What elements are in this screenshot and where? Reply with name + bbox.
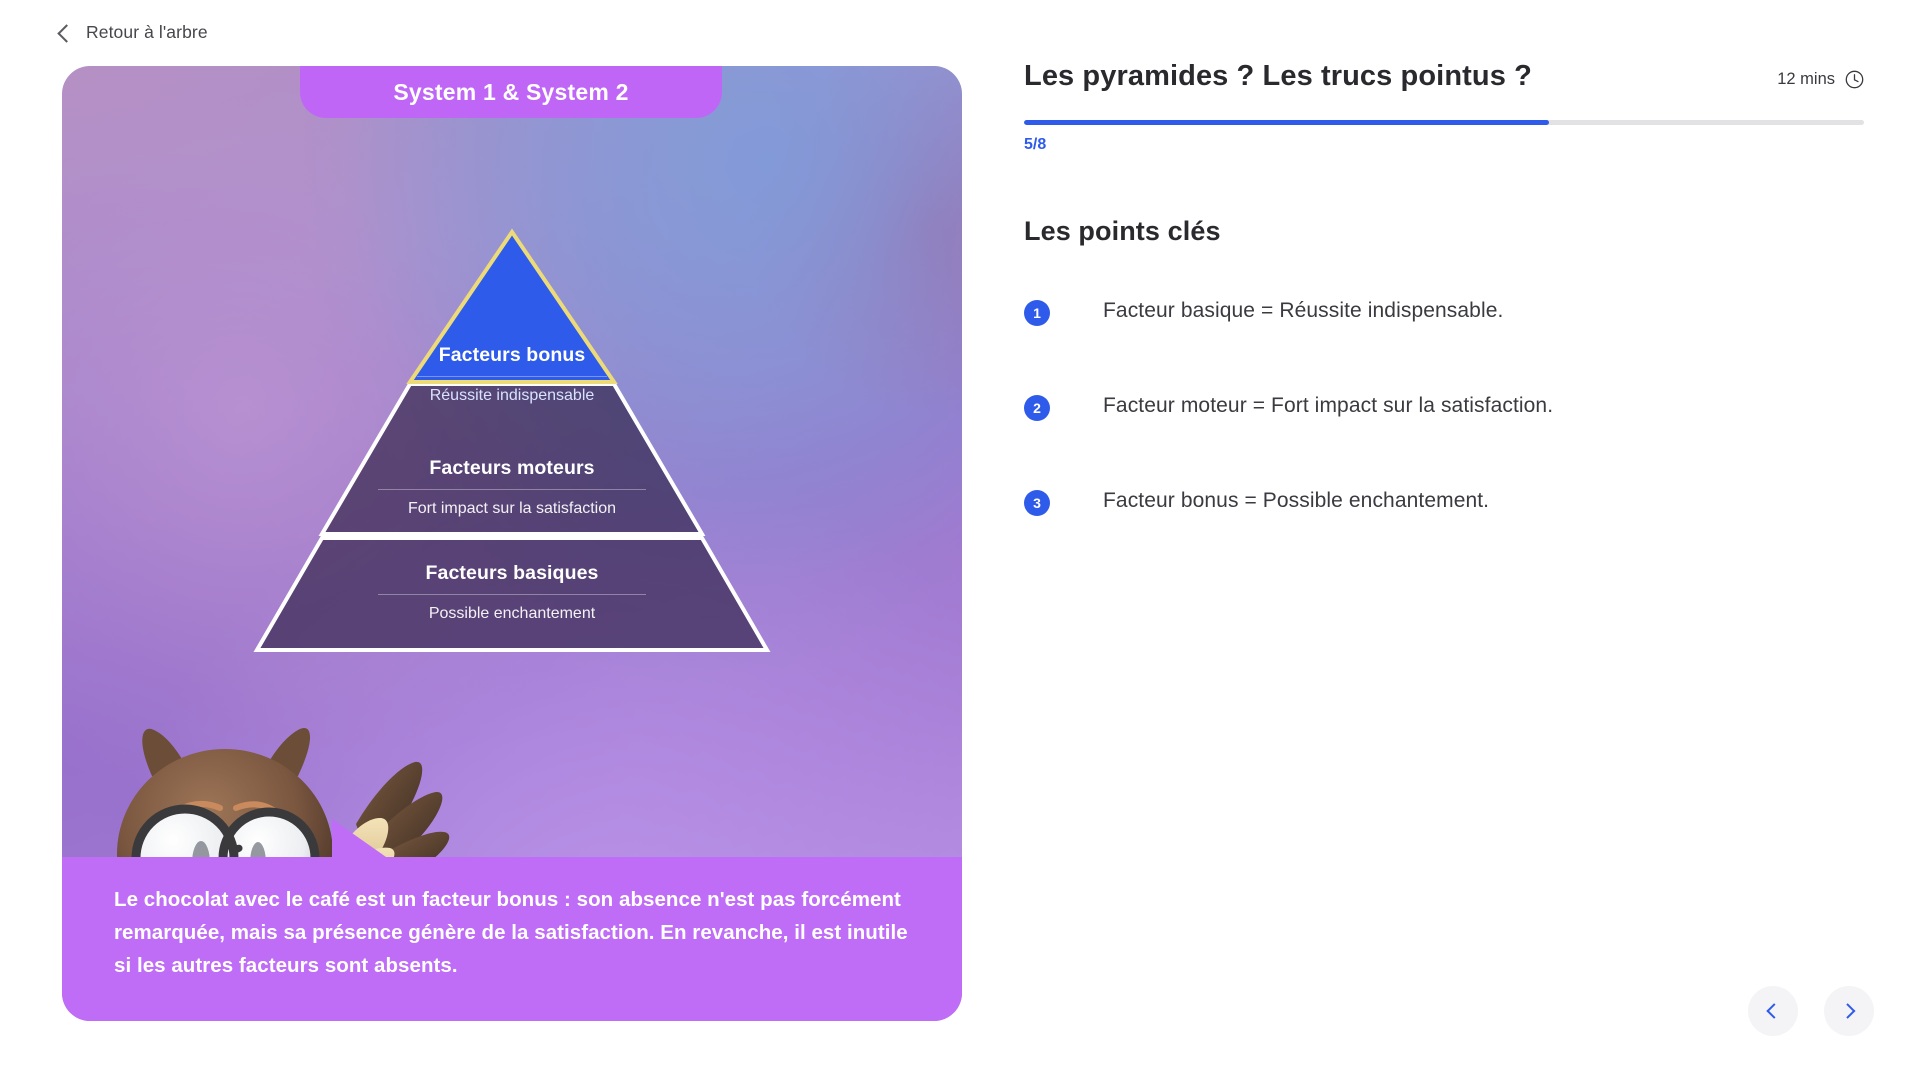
lesson-header: Les pyramides ? Les trucs pointus ? 12 m…	[1024, 60, 1864, 93]
chevron-left-icon	[57, 24, 75, 42]
status-badge: 3	[1024, 490, 1050, 516]
status-badge: 2	[1024, 395, 1050, 421]
next-slide-button[interactable]	[1824, 986, 1874, 1036]
slide-navigation	[1748, 986, 1874, 1036]
keypoint-text: Facteur basique = Réussite indispensable…	[1103, 297, 1503, 324]
slide-card: System 1 & System 2 Facteurs bonus Réuss…	[62, 66, 962, 1021]
clock-icon	[1845, 70, 1864, 89]
progress-bar	[1024, 120, 1864, 125]
slide-banner-title: System 1 & System 2	[393, 79, 628, 106]
keypoint-text: Facteur bonus = Possible enchantement.	[1103, 487, 1489, 514]
duration-label: 12 mins	[1777, 70, 1835, 89]
page-title: Les pyramides ? Les trucs pointus ?	[1024, 60, 1532, 93]
pyramid-tier-middle-shape	[322, 384, 702, 534]
duration-indicator: 12 mins	[1777, 60, 1864, 89]
keypoints-title: Les points clés	[1024, 216, 1864, 247]
caption-bubble: Le chocolat avec le café est un facteur …	[62, 857, 962, 1021]
status-badge: 1	[1024, 300, 1050, 326]
back-to-tree-label: Retour à l'arbre	[86, 22, 208, 43]
caption-text: Le chocolat avec le café est un facteur …	[114, 883, 908, 983]
keypoint-text: Facteur moteur = Fort impact sur la sati…	[1103, 392, 1553, 419]
progress-bar-fill	[1024, 120, 1549, 125]
back-to-tree-link[interactable]: Retour à l'arbre	[60, 22, 208, 43]
pyramid-diagram: Facteurs bonus Réussite indispensable Fa…	[62, 192, 962, 662]
chevron-left-icon	[1766, 1003, 1782, 1019]
slide-banner: System 1 & System 2	[300, 66, 722, 118]
list-item: 3 Facteur bonus = Possible enchantement.	[1024, 487, 1864, 516]
list-item: 2 Facteur moteur = Fort impact sur la sa…	[1024, 392, 1864, 421]
pyramid-tier-base-shape	[257, 538, 767, 650]
chevron-right-icon	[1840, 1003, 1856, 1019]
previous-slide-button[interactable]	[1748, 986, 1798, 1036]
pyramid-svg	[62, 192, 962, 662]
lesson-panel: Les pyramides ? Les trucs pointus ? 12 m…	[1024, 60, 1864, 582]
pyramid-tier-top-shape	[410, 232, 614, 382]
progress-label: 5/8	[1024, 136, 1864, 154]
keypoints-list: 1 Facteur basique = Réussite indispensab…	[1024, 297, 1864, 516]
list-item: 1 Facteur basique = Réussite indispensab…	[1024, 297, 1864, 326]
